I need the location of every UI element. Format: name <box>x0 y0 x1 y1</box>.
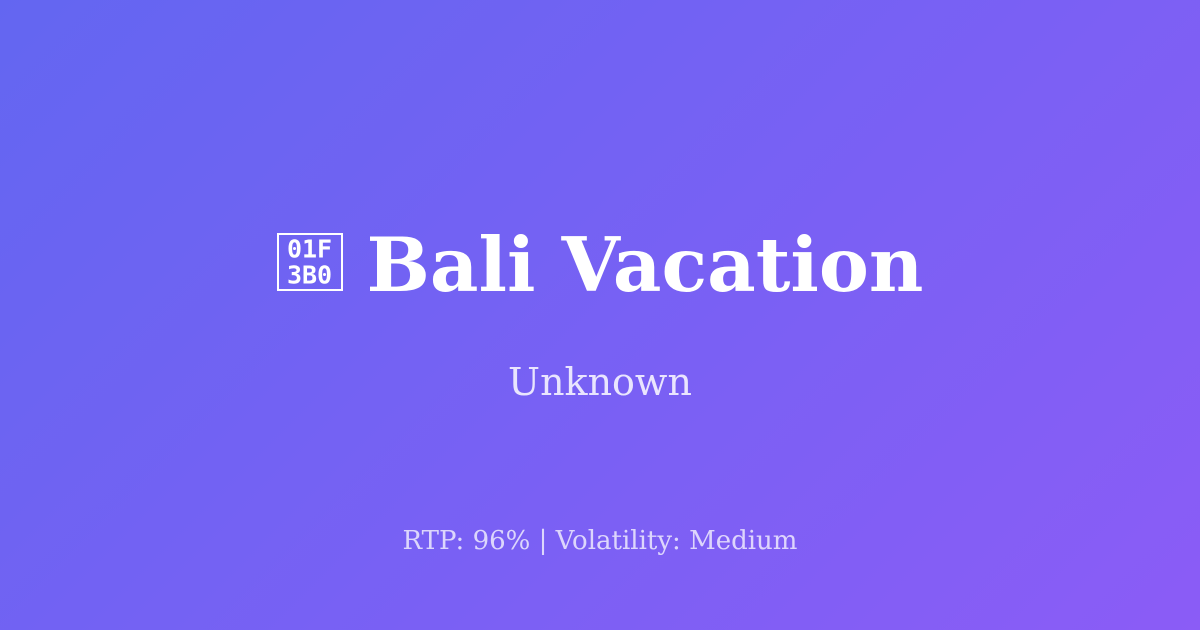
provider-subtitle: Unknown <box>0 363 1200 401</box>
slot-machine-emoji-icon: 01F 3B0 <box>277 233 343 291</box>
tofu-codepoint-stack: 01F 3B0 <box>279 237 341 288</box>
game-preview-card: 01F 3B0 Bali Vacation Unknown RTP: 96% |… <box>0 0 1200 630</box>
page-title: Bali Vacation <box>367 228 924 303</box>
title-row: 01F 3B0 Bali Vacation <box>0 228 1200 303</box>
tofu-codepoint-top: 01F <box>287 237 332 263</box>
game-stats-line: RTP: 96% | Volatility: Medium <box>0 528 1200 554</box>
tofu-codepoint-bottom: 3B0 <box>287 262 332 288</box>
